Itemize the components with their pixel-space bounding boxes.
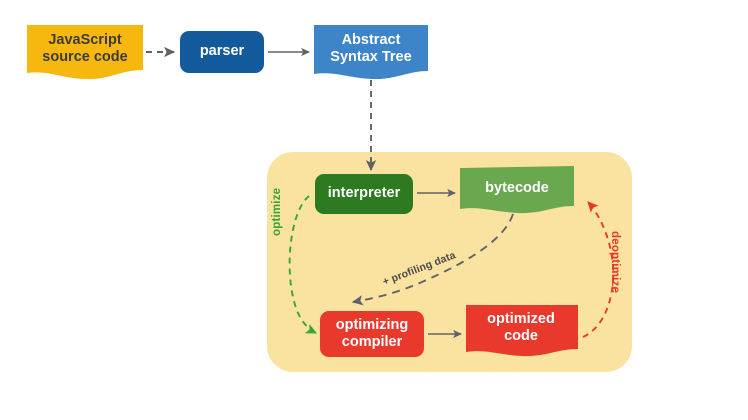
node-bytecode[interactable] bbox=[460, 166, 574, 213]
node-parser[interactable] bbox=[180, 31, 264, 73]
node-abstract-syntax-tree[interactable] bbox=[314, 25, 428, 79]
diagram-canvas: JavaScript source code parser Abstract S… bbox=[0, 0, 748, 420]
node-interpreter[interactable] bbox=[315, 174, 413, 214]
node-javascript-source-code[interactable] bbox=[27, 25, 143, 79]
node-optimizing-compiler[interactable] bbox=[320, 311, 424, 357]
node-optimized-code[interactable] bbox=[466, 305, 578, 356]
diagram-svg bbox=[0, 0, 748, 420]
